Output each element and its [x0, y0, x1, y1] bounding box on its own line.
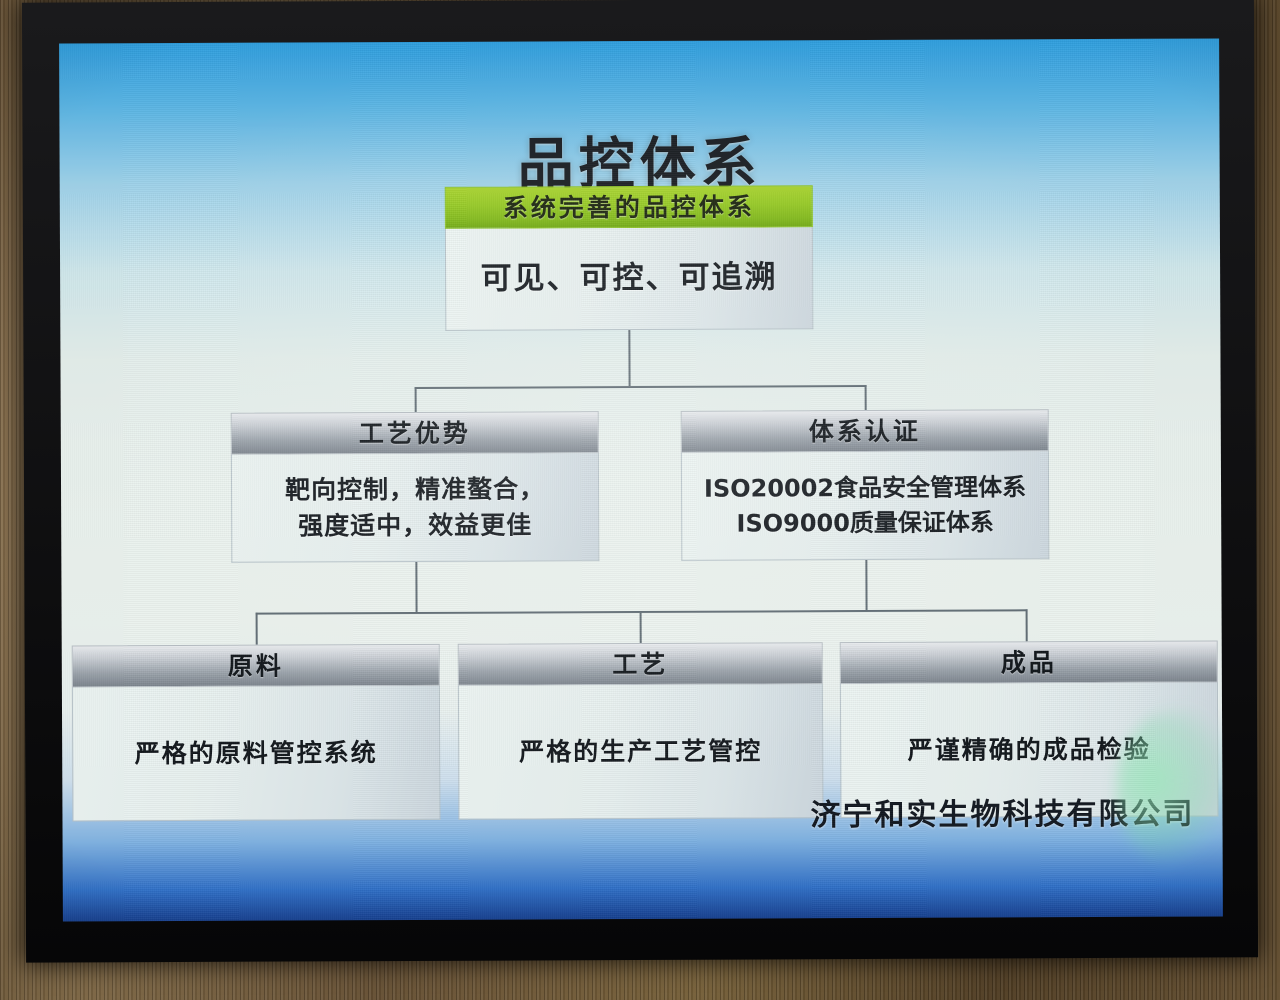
node-line: ISO20002食品安全管理体系 [704, 471, 1026, 506]
node-process-advantage[interactable]: 工艺优势 靶向控制，精准螯合， 强度适中，效益更佳 [231, 411, 600, 563]
node-quality-system[interactable]: 系统完善的品控体系 可见、可控、可追溯 [445, 185, 814, 331]
node-header-finished-product: 成品 [840, 640, 1218, 684]
node-line: 靶向控制，精准螯合， [285, 471, 545, 508]
node-body-quality-system: 可见、可控、可追溯 [445, 227, 813, 331]
node-line: 可见、可控、可追溯 [481, 256, 778, 301]
connector-mid-bar [415, 385, 867, 389]
node-system-certification[interactable]: 体系认证 ISO20002食品安全管理体系 ISO9000质量保证体系 [681, 409, 1050, 561]
node-header-quality-system: 系统完善的品控体系 [445, 185, 813, 229]
node-line: ISO9000质量保证体系 [704, 505, 1026, 540]
node-header-process-advantage: 工艺优势 [231, 411, 599, 455]
node-line: 严格的原料管控系统 [135, 735, 378, 772]
node-body-system-certification: ISO20002食品安全管理体系 ISO9000质量保证体系 [681, 451, 1049, 561]
node-line: 严谨精确的成品检验 [908, 732, 1151, 769]
node-header-raw-material: 原料 [72, 644, 440, 688]
connector-to-process [415, 387, 417, 413]
node-header-production-process: 工艺 [458, 642, 823, 686]
connector-to-method [640, 611, 642, 643]
node-body-raw-material: 严格的原料管控系统 [72, 686, 441, 822]
connector-to-cert [865, 385, 867, 411]
node-raw-material[interactable]: 原料 严格的原料管控系统 [72, 644, 441, 822]
connector-root-down [628, 330, 630, 386]
connector-to-product [1026, 609, 1028, 641]
node-body-process-advantage: 靶向控制，精准螯合， 强度适中，效益更佳 [231, 453, 599, 563]
node-line: 严格的生产工艺管控 [519, 733, 762, 770]
node-body-production-process: 严格的生产工艺管控 [458, 684, 824, 820]
projector-screen-frame: 品控体系 系统完善的品控体系 可见、可控、可追溯 工艺优势 靶 [26, 1, 1252, 956]
presentation-slide: 品控体系 系统完善的品控体系 可见、可控、可追溯 工艺优势 靶 [59, 38, 1223, 921]
node-production-process[interactable]: 工艺 严格的生产工艺管控 [458, 642, 824, 820]
connector-to-material [256, 613, 258, 645]
company-name-footer: 济宁和实生物科技有限公司 [810, 789, 1194, 835]
node-header-system-certification: 体系认证 [681, 409, 1049, 453]
node-line: 强度适中，效益更佳 [285, 507, 545, 544]
